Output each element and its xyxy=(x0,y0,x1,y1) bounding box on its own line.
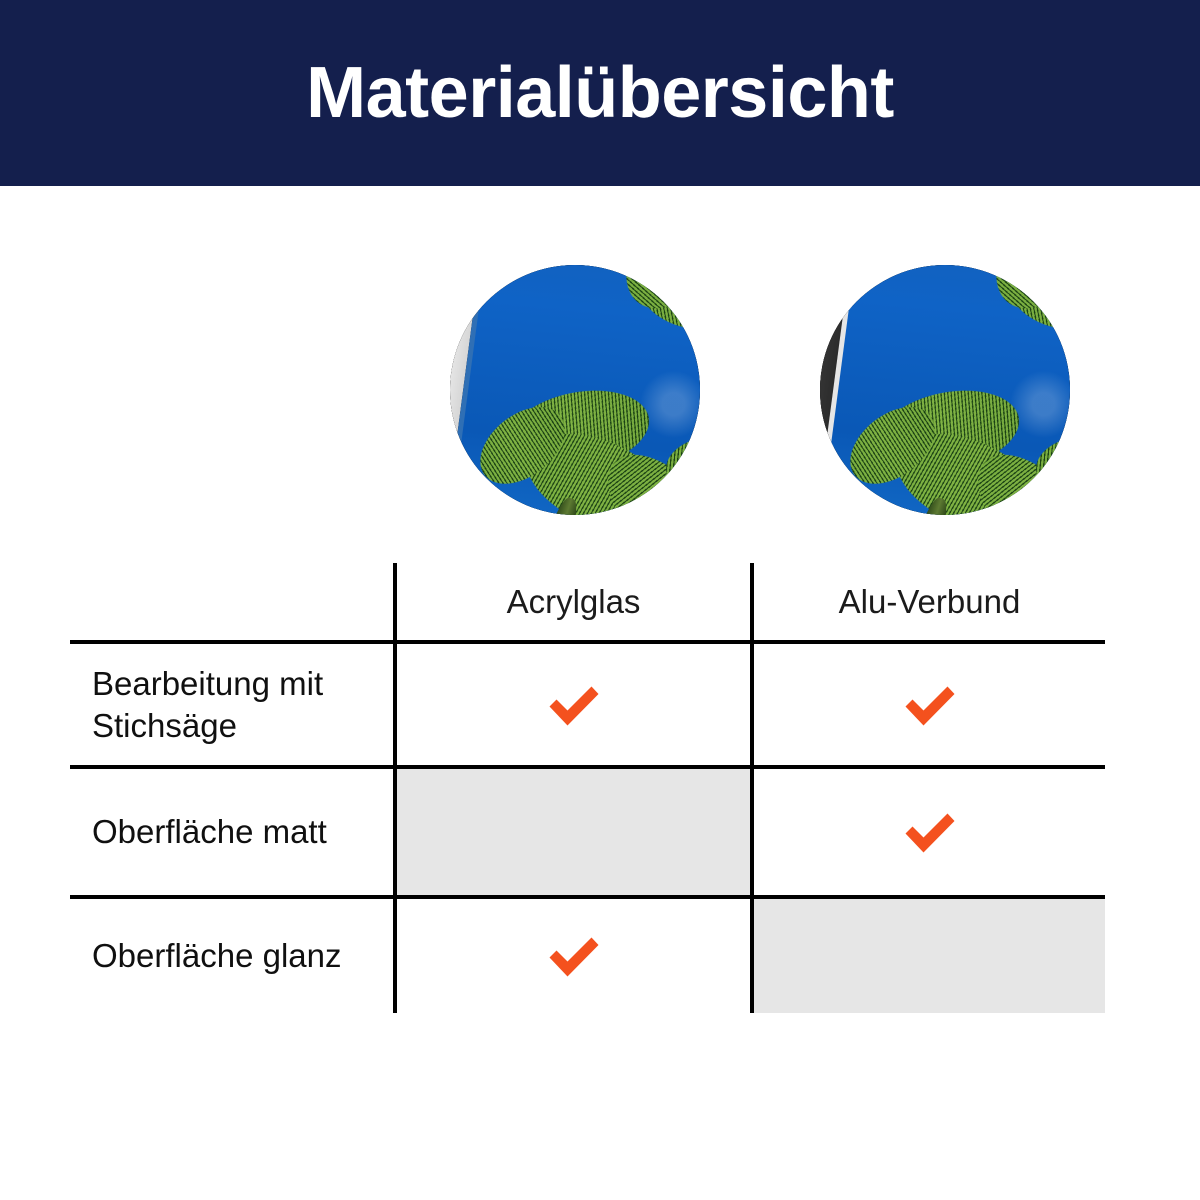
check-icon xyxy=(901,808,959,856)
cell-oberflaeche-glanz-acrylglas xyxy=(397,899,750,1013)
acrylglas-panel xyxy=(450,265,700,515)
acrylglas-thumbnail xyxy=(450,265,700,515)
cell-bearbeitung-alu-verbund xyxy=(754,644,1105,765)
column-header-alu-verbund-label: Alu-Verbund xyxy=(839,583,1021,621)
row-label-oberflaeche-glanz-text: Oberfläche glanz xyxy=(92,935,341,977)
alu-verbund-panel xyxy=(820,265,1070,515)
row-label-oberflaeche-matt: Oberfläche matt xyxy=(70,769,393,895)
thumbnail-row xyxy=(0,265,1200,515)
page-title: Materialübersicht xyxy=(306,57,894,129)
acrylglas-product-image xyxy=(450,265,700,515)
check-icon xyxy=(545,681,603,729)
column-header-alu-verbund: Alu-Verbund xyxy=(754,563,1105,640)
palm-photo-alu xyxy=(820,265,1070,515)
row-label-bearbeitung-mit-stichsaege: Bearbeitung mit Stichsäge xyxy=(70,644,393,765)
page-header: Materialübersicht xyxy=(0,0,1200,186)
material-comparison-table: Acrylglas Alu-Verbund Bearbeitung mit St… xyxy=(70,563,1105,1013)
column-header-acrylglas-label: Acrylglas xyxy=(507,583,641,621)
alu-verbund-thumbnail xyxy=(820,265,1070,515)
check-icon xyxy=(545,932,603,980)
palm-photo-acryl xyxy=(450,265,700,515)
alu-verbund-product-image xyxy=(820,265,1070,515)
check-icon xyxy=(901,681,959,729)
material-overview-page: Materialübersicht xyxy=(0,0,1200,1200)
row-label-line-2: Stichsäge xyxy=(92,707,237,744)
cell-oberflaeche-glanz-alu-verbund xyxy=(754,899,1105,1013)
column-header-acrylglas: Acrylglas xyxy=(397,563,750,640)
cell-oberflaeche-matt-alu-verbund xyxy=(754,769,1105,895)
row-label-line-1: Bearbeitung mit xyxy=(92,665,323,702)
cell-bearbeitung-acrylglas xyxy=(397,644,750,765)
row-label-oberflaeche-glanz: Oberfläche glanz xyxy=(70,899,393,1013)
cell-oberflaeche-matt-acrylglas xyxy=(397,769,750,895)
row-label-oberflaeche-matt-text: Oberfläche matt xyxy=(92,811,327,853)
